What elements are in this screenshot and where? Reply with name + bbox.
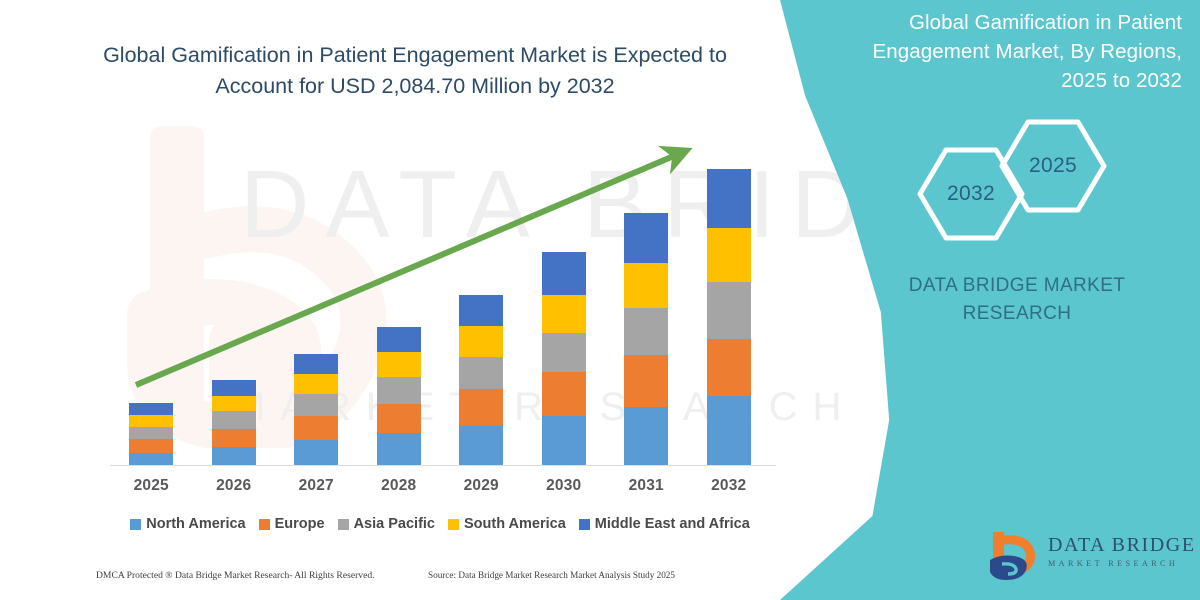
bar-segment-2026-europe: [212, 429, 256, 447]
bar-2025: [129, 403, 173, 466]
bar-segment-2027-asia-pacific: [294, 394, 338, 416]
bar-segment-2031-asia-pacific: [624, 308, 668, 355]
bar-segment-2025-europe: [129, 439, 173, 452]
logo-mark-icon: [986, 530, 1040, 582]
bar-segment-2032-middle-east-and-africa: [707, 169, 751, 228]
x-axis-labels: 20252026202720282029203020312032: [110, 477, 776, 499]
chart-legend: North AmericaEuropeAsia PacificSouth Ame…: [110, 513, 770, 535]
legend-swatch-icon: [579, 519, 590, 530]
hexagon-2032-label: 2032: [916, 182, 1026, 206]
x-axis-label-2029: 2029: [446, 477, 516, 495]
logo-subtitle: MARKET RESEARCH: [1048, 558, 1184, 570]
bar-segment-2029-south-america: [459, 326, 503, 357]
x-axis-label-2028: 2028: [364, 477, 434, 495]
bar-2032: [707, 169, 751, 466]
hexagon-2032: 2032: [916, 146, 1026, 242]
bar-segment-2027-europe: [294, 416, 338, 440]
bar-segment-2031-middle-east-and-africa: [624, 213, 668, 263]
x-axis-label-2025: 2025: [116, 477, 186, 495]
bar-segment-2030-europe: [542, 372, 586, 416]
bar-2026: [212, 380, 256, 466]
legend-label: Middle East and Africa: [595, 516, 750, 532]
legend-item-europe[interactable]: Europe: [259, 516, 325, 532]
bar-segment-2029-asia-pacific: [459, 357, 503, 390]
bar-segment-2030-middle-east-and-africa: [542, 252, 586, 295]
legend-item-asia-pacific[interactable]: Asia Pacific: [338, 516, 435, 532]
x-axis-label-2030: 2030: [529, 477, 599, 495]
bar-segment-2030-asia-pacific: [542, 333, 586, 372]
x-axis-line: [110, 465, 776, 466]
footer-dmca-text: DMCA Protected ® Data Bridge Market Rese…: [96, 570, 375, 581]
x-axis-label-2032: 2032: [694, 477, 764, 495]
legend-swatch-icon: [259, 519, 270, 530]
bar-segment-2028-middle-east-and-africa: [377, 327, 421, 352]
infographic-root: DATA BRIDGE MARKET RESEARCH Global Gamif…: [0, 0, 1200, 600]
x-axis-label-2031: 2031: [611, 477, 681, 495]
legend-item-south-america[interactable]: South America: [448, 516, 566, 532]
bar-segment-2032-asia-pacific: [707, 282, 751, 339]
bar-segment-2028-north-america: [377, 433, 421, 466]
logo-title: DATA BRIDGE: [1048, 534, 1184, 557]
x-axis-label-2026: 2026: [199, 477, 269, 495]
footer-source-text: Source: Data Bridge Market Research Mark…: [428, 570, 675, 580]
chart-area: 20252026202720282029203020312032 North A…: [0, 0, 800, 600]
bar-segment-2026-north-america: [212, 447, 256, 466]
bar-segment-2027-middle-east-and-africa: [294, 354, 338, 374]
bar-segment-2031-south-america: [624, 263, 668, 308]
bar-segment-2028-asia-pacific: [377, 377, 421, 404]
bar-2027: [294, 354, 338, 466]
bar-segment-2025-middle-east-and-africa: [129, 403, 173, 415]
bar-segment-2031-north-america: [624, 407, 668, 466]
bar-segment-2029-europe: [459, 389, 503, 425]
x-axis-label-2027: 2027: [281, 477, 351, 495]
legend-swatch-icon: [338, 519, 349, 530]
bar-segment-2026-asia-pacific: [212, 411, 256, 428]
bar-segment-2029-middle-east-and-africa: [459, 295, 503, 326]
panel-title: Global Gamification in Patient Engagemen…: [852, 8, 1182, 95]
bar-segment-2031-europe: [624, 355, 668, 407]
bar-segment-2025-asia-pacific: [129, 427, 173, 439]
bar-segment-2026-south-america: [212, 396, 256, 411]
bar-segment-2028-europe: [377, 404, 421, 434]
hexagon-group: 2025 2032: [898, 118, 1128, 228]
legend-item-middle-east-and-africa[interactable]: Middle East and Africa: [579, 516, 750, 532]
bar-segment-2026-middle-east-and-africa: [212, 380, 256, 396]
bar-segment-2029-north-america: [459, 426, 503, 466]
legend-label: Asia Pacific: [354, 516, 435, 532]
bar-segment-2032-south-america: [707, 228, 751, 282]
legend-label: North America: [146, 516, 245, 532]
data-bridge-logo: DATA BRIDGE MARKET RESEARCH: [986, 528, 1184, 586]
bar-plot: [110, 140, 770, 466]
panel-brand-text: DATA BRIDGE MARKET RESEARCH: [852, 272, 1182, 328]
bar-2030: [542, 252, 586, 466]
bar-segment-2030-north-america: [542, 416, 586, 466]
legend-swatch-icon: [448, 519, 459, 530]
logo-text-block: DATA BRIDGE MARKET RESEARCH: [1048, 534, 1184, 570]
bar-segment-2032-north-america: [707, 396, 751, 466]
bar-segment-2032-europe: [707, 339, 751, 397]
bar-segment-2030-south-america: [542, 295, 586, 332]
bar-2031: [624, 213, 668, 466]
legend-item-north-america[interactable]: North America: [130, 516, 245, 532]
legend-label: Europe: [275, 516, 325, 532]
bar-2028: [377, 327, 421, 466]
bar-2029: [459, 295, 503, 466]
bar-segment-2025-south-america: [129, 415, 173, 427]
legend-swatch-icon: [130, 519, 141, 530]
bar-segment-2027-south-america: [294, 374, 338, 394]
bar-segment-2028-south-america: [377, 352, 421, 377]
legend-label: South America: [464, 516, 566, 532]
bar-segment-2027-north-america: [294, 440, 338, 466]
bar-segment-2025-north-america: [129, 453, 173, 466]
